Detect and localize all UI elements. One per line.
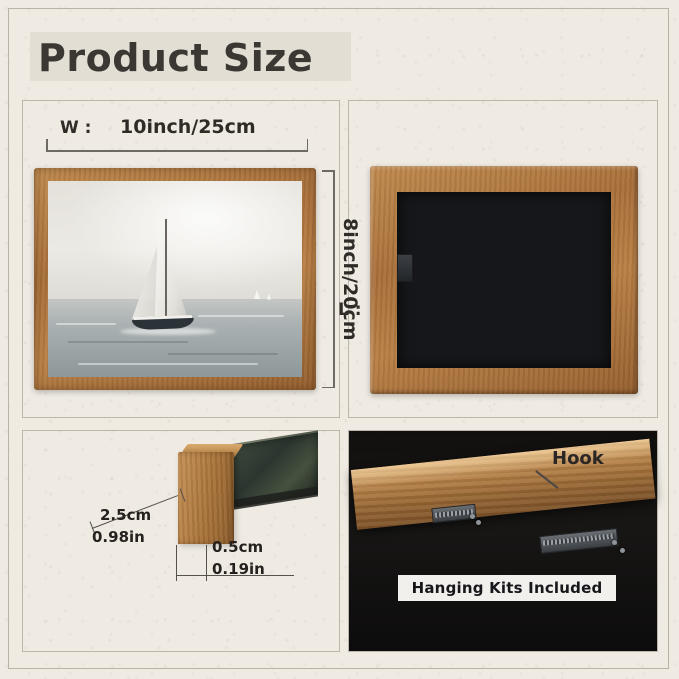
width-value: 10inch/25cm xyxy=(120,116,256,138)
hanger-nail xyxy=(612,540,617,545)
height-dimension-line xyxy=(333,170,335,388)
height-tick-top xyxy=(322,170,334,172)
depth-tick-left xyxy=(176,545,177,581)
width-tick-left xyxy=(46,139,48,151)
hanging-kits-banner-text: Hanging Kits Included xyxy=(412,579,603,597)
hanger-nail xyxy=(470,514,475,519)
distant-sail xyxy=(267,293,271,299)
hanger-nail xyxy=(476,520,481,525)
hook-label: Hook xyxy=(552,448,604,469)
frame-corner-profile xyxy=(178,452,234,544)
picture-frame-back xyxy=(370,166,638,394)
width-tick-right xyxy=(307,139,309,151)
distant-sail xyxy=(254,290,260,299)
hanger-nail xyxy=(620,548,625,553)
height-tick-bottom xyxy=(322,387,334,389)
thickness-in-text: 0.98in xyxy=(92,528,145,546)
page-title-group: Product Size xyxy=(30,26,323,84)
backing-clip xyxy=(397,254,413,282)
length-value: 8inch/20cm xyxy=(339,218,361,341)
frame-backing-board xyxy=(397,192,611,368)
thickness-cm-text: 2.5cm xyxy=(100,506,151,524)
sea-shadow xyxy=(68,341,188,343)
boat-wake xyxy=(120,328,216,335)
hanging-kits-banner: Hanging Kits Included xyxy=(398,575,616,601)
sea-shadow xyxy=(168,353,278,355)
artwork-sailboat-painting xyxy=(48,181,302,377)
mast xyxy=(165,219,167,319)
depth-cm-text: 0.5cm xyxy=(212,538,263,556)
sea-highlight xyxy=(198,315,284,317)
sea-highlight xyxy=(56,323,116,325)
depth-tick-right xyxy=(206,545,207,581)
page-title: Product Size xyxy=(30,26,323,84)
depth-in-text: 0.19in xyxy=(212,560,265,578)
width-label: W : xyxy=(60,118,91,138)
picture-frame-front xyxy=(34,168,316,390)
sea-highlight xyxy=(78,363,258,365)
width-dimension-line xyxy=(46,150,308,152)
